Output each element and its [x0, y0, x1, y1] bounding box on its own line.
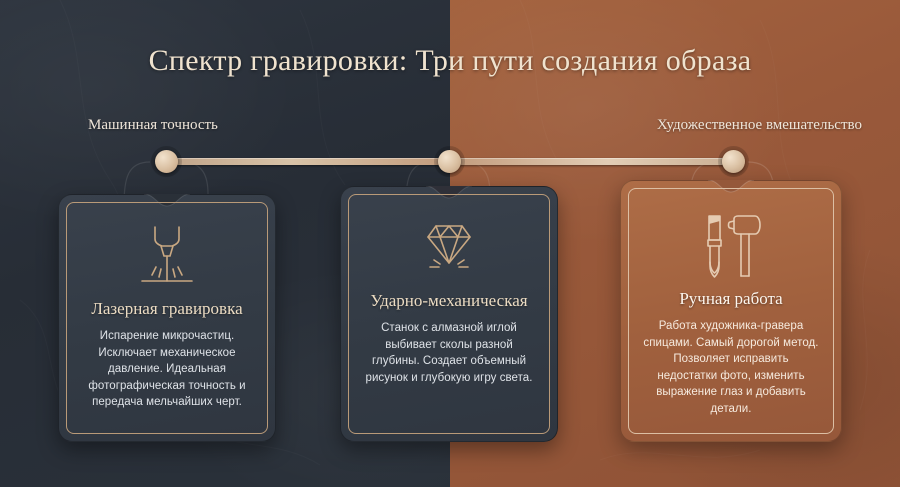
card-impact-mechanical[interactable]: Ударно-механическая Станок с алмазной иг…	[340, 186, 558, 442]
infographic-stage: Спектр гравировки: Три пути создания обр…	[0, 0, 900, 487]
spectrum-node-right[interactable]	[722, 150, 745, 173]
card-inner: Ручная работа Работа художника-гравера с…	[628, 188, 834, 434]
axis-label-right: Художественное вмешательство	[657, 117, 862, 134]
card-inner: Лазерная гравировка Испарение микрочасти…	[66, 202, 268, 434]
card-title: Лазерная гравировка	[91, 299, 242, 319]
card-body: Испарение микрочастиц. Исключает механич…	[67, 328, 267, 411]
spectrum-node-left[interactable]	[155, 150, 178, 173]
card-body: Работа художника-гравера спицами. Самый …	[629, 318, 833, 417]
axis-label-left: Машинная точность	[88, 117, 218, 134]
card-laser[interactable]: Лазерная гравировка Испарение микрочасти…	[58, 194, 276, 442]
page-title: Спектр гравировки: Три пути создания обр…	[0, 44, 900, 78]
diamond-icon	[414, 211, 484, 285]
chisel-hammer-icon	[691, 209, 771, 283]
laser-nozzle-icon	[132, 219, 202, 293]
card-handwork[interactable]: Ручная работа Работа художника-гравера с…	[620, 180, 842, 442]
card-title: Ручная работа	[679, 289, 782, 309]
card-title: Ударно-механическая	[370, 291, 527, 311]
card-body: Станок с алмазной иглой выбивает сколы р…	[349, 320, 549, 386]
spectrum-node-middle[interactable]	[438, 150, 461, 173]
card-inner: Ударно-механическая Станок с алмазной иг…	[348, 194, 550, 434]
